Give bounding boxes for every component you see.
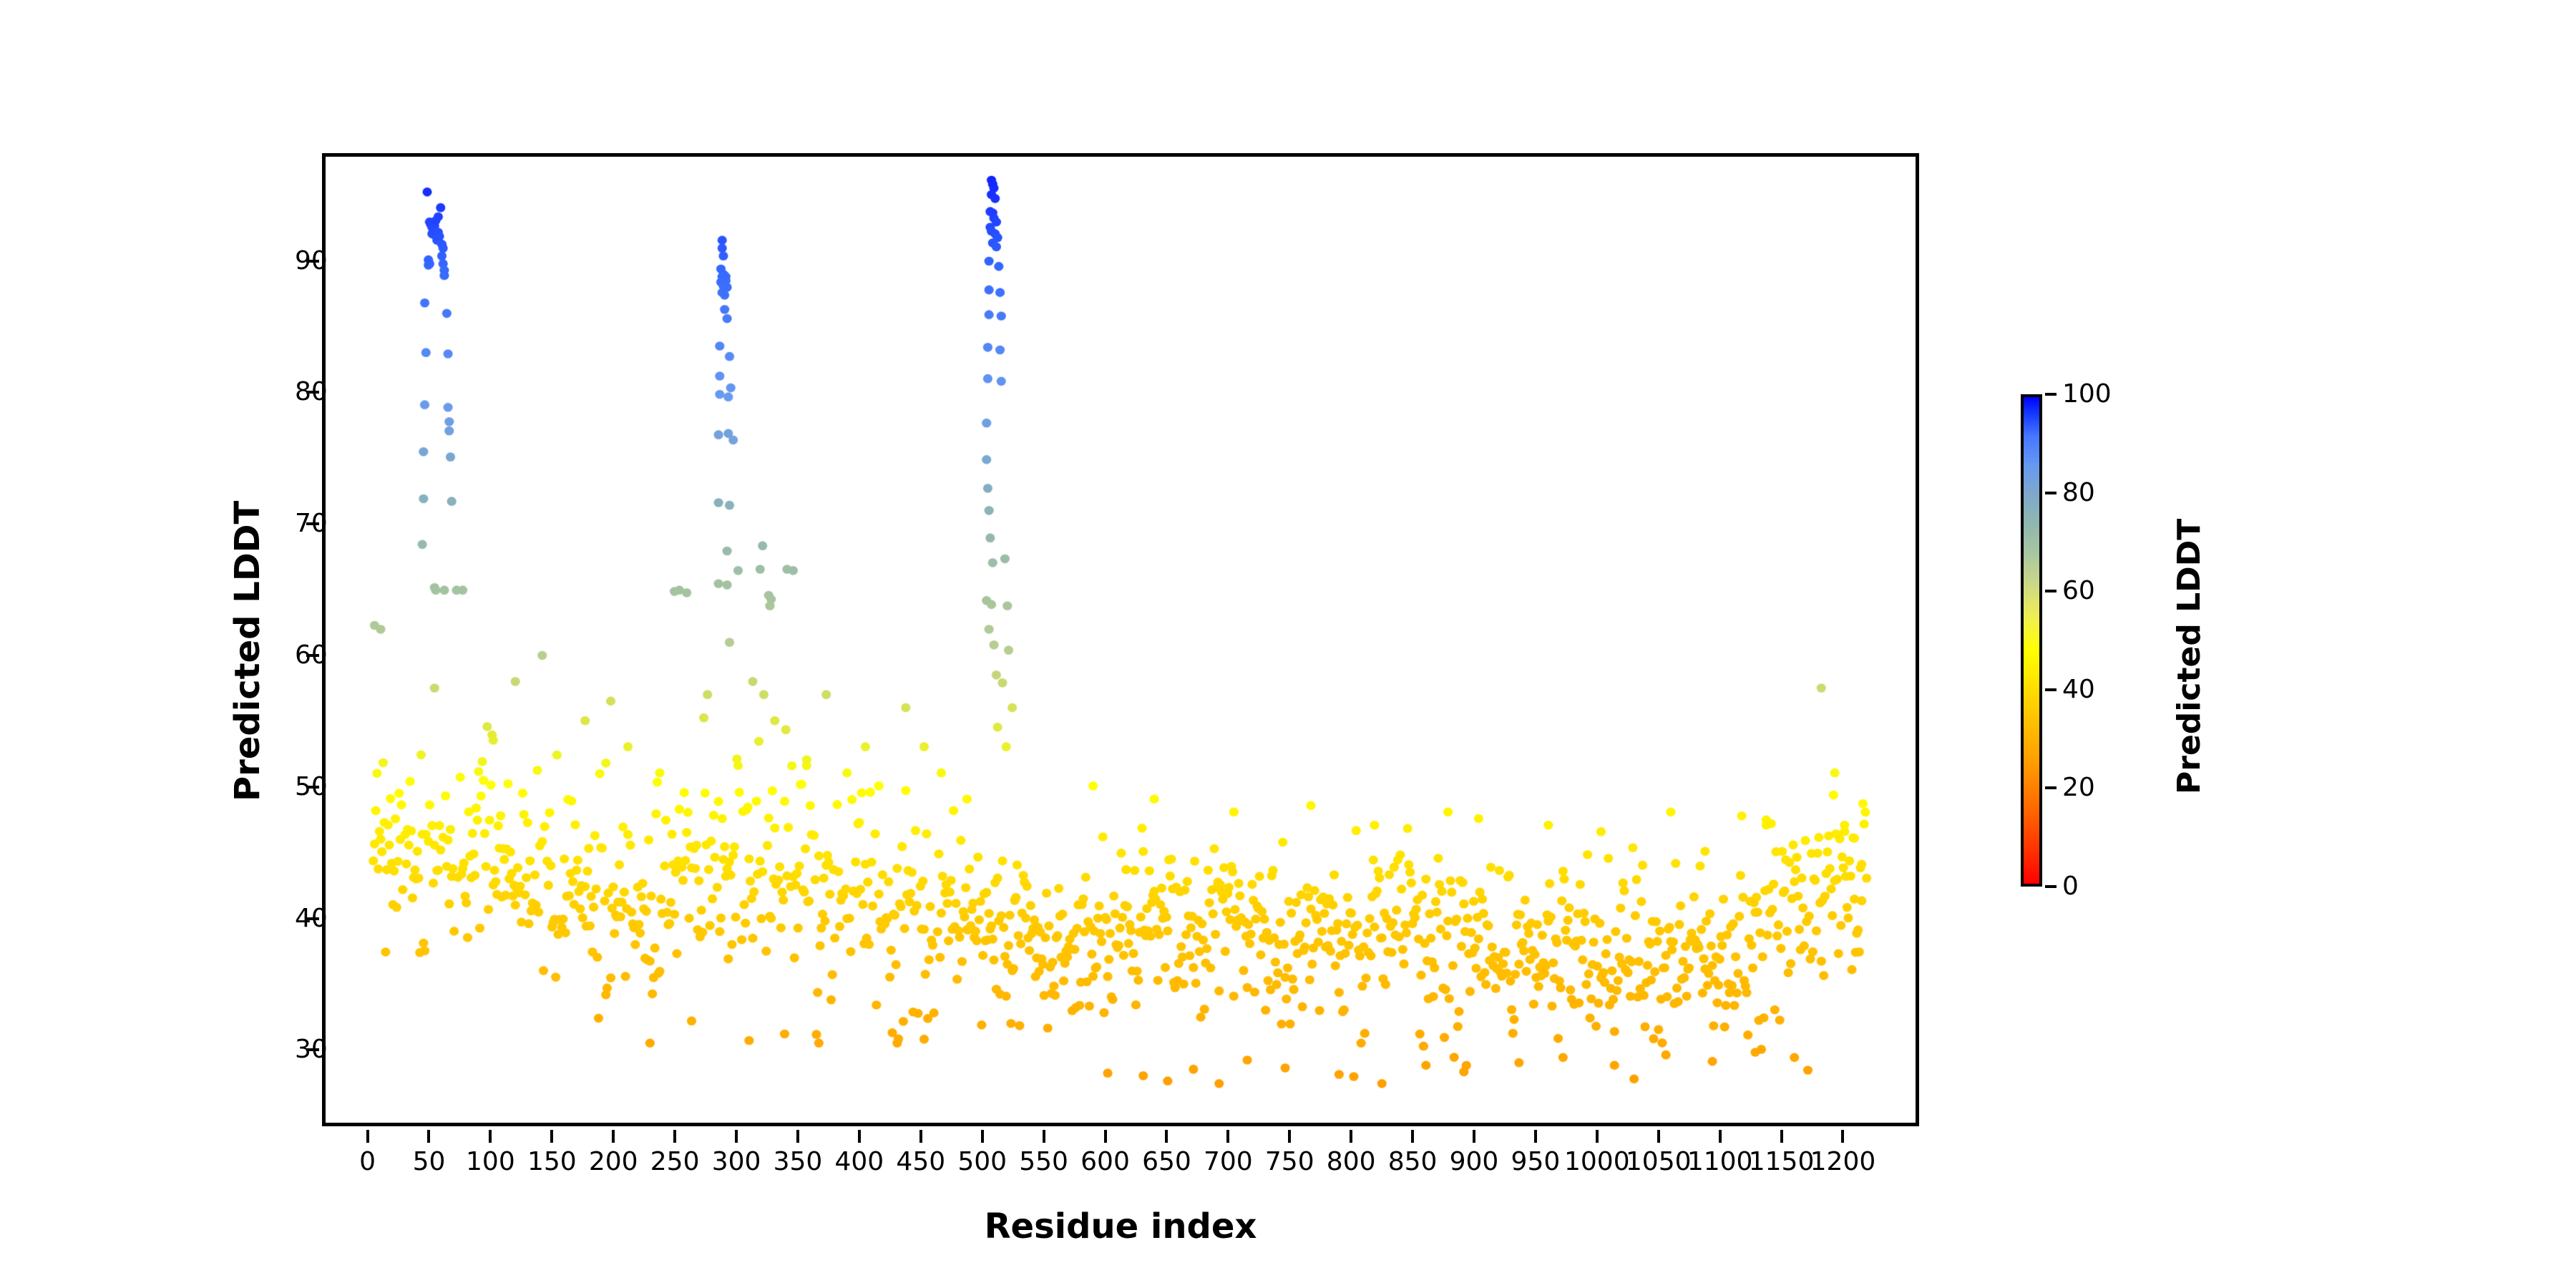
x-tick-label: 1100 xyxy=(1687,1149,1753,1175)
x-tick-mark xyxy=(1780,1130,1783,1143)
y-tick-label: 80 xyxy=(295,379,328,405)
x-tick-mark xyxy=(673,1130,676,1143)
x-tick-label: 750 xyxy=(1265,1149,1314,1175)
x-tick-label: 700 xyxy=(1204,1149,1253,1175)
x-tick-mark xyxy=(489,1130,492,1143)
x-tick-mark xyxy=(1657,1130,1660,1143)
x-tick-mark xyxy=(1719,1130,1722,1143)
x-tick-mark xyxy=(1534,1130,1537,1143)
x-tick-mark xyxy=(735,1130,738,1143)
y-tick-label: 90 xyxy=(295,248,328,274)
colorbar-tick-mark xyxy=(2045,590,2057,592)
x-tick-label: 300 xyxy=(712,1149,761,1175)
x-tick-label: 1050 xyxy=(1626,1149,1692,1175)
colorbar-tick-mark xyxy=(2045,492,2057,494)
x-tick-mark xyxy=(427,1130,430,1143)
x-tick-label: 150 xyxy=(527,1149,577,1175)
x-tick-label: 800 xyxy=(1327,1149,1376,1175)
x-tick-mark xyxy=(1288,1130,1291,1143)
x-tick-mark xyxy=(981,1130,984,1143)
plddt-scatter-figure: 0501001502002503003504004505005506006507… xyxy=(0,0,2576,1288)
x-tick-mark xyxy=(796,1130,799,1143)
colorbar-tick-label: 0 xyxy=(2062,874,2079,899)
colorbar-tick-label: 40 xyxy=(2062,677,2095,703)
colorbar-tick-mark xyxy=(2045,786,2057,789)
x-tick-mark xyxy=(1350,1130,1352,1143)
x-tick-mark xyxy=(1226,1130,1229,1143)
x-tick-label: 950 xyxy=(1511,1149,1561,1175)
x-tick-mark xyxy=(858,1130,861,1143)
y-tick-label: 30 xyxy=(295,1037,328,1063)
y-tick-label: 60 xyxy=(295,643,328,668)
x-tick-mark xyxy=(1473,1130,1475,1143)
x-tick-label: 50 xyxy=(413,1149,446,1175)
x-tick-label: 100 xyxy=(466,1149,515,1175)
x-tick-label: 200 xyxy=(589,1149,638,1175)
x-tick-label: 550 xyxy=(1019,1149,1068,1175)
x-tick-label: 1200 xyxy=(1810,1149,1876,1175)
scatter-plot-canvas xyxy=(326,157,1916,1123)
x-tick-label: 500 xyxy=(957,1149,1007,1175)
colorbar-tick-label: 60 xyxy=(2062,578,2095,604)
x-tick-label: 650 xyxy=(1142,1149,1191,1175)
x-tick-label: 900 xyxy=(1450,1149,1499,1175)
y-tick-label: 50 xyxy=(295,774,328,800)
colorbar-tick-mark xyxy=(2045,393,2057,396)
x-tick-label: 1000 xyxy=(1564,1149,1630,1175)
colorbar-tick-mark xyxy=(2045,885,2057,888)
x-tick-mark xyxy=(1841,1130,1844,1143)
x-tick-mark xyxy=(612,1130,615,1143)
x-tick-label: 0 xyxy=(359,1149,376,1175)
x-tick-mark xyxy=(1596,1130,1599,1143)
x-tick-label: 250 xyxy=(650,1149,700,1175)
x-tick-label: 1150 xyxy=(1749,1149,1815,1175)
x-tick-mark xyxy=(1043,1130,1045,1143)
y-axis-label: Predicted LDDT xyxy=(228,501,268,801)
x-tick-label: 450 xyxy=(896,1149,945,1175)
x-tick-mark xyxy=(919,1130,922,1143)
y-tick-label: 70 xyxy=(295,511,328,537)
colorbar-gradient xyxy=(2021,394,2042,887)
x-tick-mark xyxy=(1104,1130,1107,1143)
colorbar-tick-label: 20 xyxy=(2062,775,2095,801)
x-tick-label: 850 xyxy=(1388,1149,1438,1175)
colorbar-tick-mark xyxy=(2045,688,2057,691)
plot-axes xyxy=(322,153,1919,1126)
x-tick-mark xyxy=(366,1130,369,1143)
x-axis-label: Residue index xyxy=(322,1209,1919,1244)
colorbar-tick-label: 80 xyxy=(2062,480,2095,506)
x-tick-mark xyxy=(550,1130,553,1143)
y-tick-label: 40 xyxy=(295,906,328,932)
x-tick-mark xyxy=(1411,1130,1414,1143)
colorbar-label: Predicted LDDT xyxy=(2171,519,2207,794)
x-tick-mark xyxy=(1165,1130,1168,1143)
x-tick-label: 350 xyxy=(774,1149,823,1175)
x-tick-label: 600 xyxy=(1080,1149,1130,1175)
colorbar-tick-label: 100 xyxy=(2062,381,2112,407)
x-tick-label: 400 xyxy=(835,1149,884,1175)
